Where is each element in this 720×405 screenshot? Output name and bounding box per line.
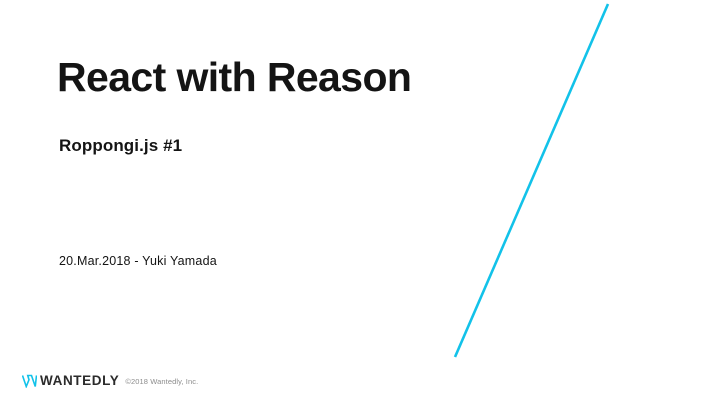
wantedly-w-icon [22,374,37,388]
page-title: React with Reason [57,55,411,100]
copyright-text: ©2018 Wantedly, Inc. [125,375,198,388]
event-subtitle: Roppongi.js #1 [59,136,182,156]
wantedly-logo-text: WANTEDLY [40,374,119,388]
footer: WANTEDLY ©2018 Wantedly, Inc. [22,374,198,388]
date-author-byline: 20.Mar.2018 - Yuki Yamada [59,254,217,268]
wantedly-logo: WANTEDLY [22,374,119,388]
slide-canvas: React with Reason Roppongi.js #1 20.Mar.… [0,0,720,405]
